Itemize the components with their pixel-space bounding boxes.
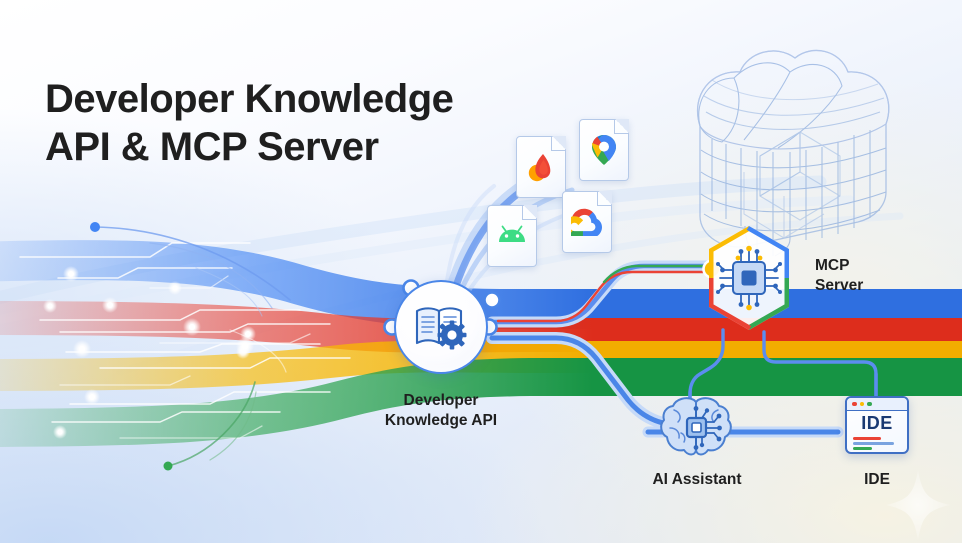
mcp-server-node[interactable]: [700, 222, 798, 339]
maps-doc[interactable]: [579, 119, 629, 181]
page-title: Developer Knowledge API & MCP Server: [45, 75, 453, 171]
ide-titlebar: [847, 398, 907, 411]
ide-label: IDE: [817, 470, 937, 490]
ai-assistant-label: AI Assistant: [627, 470, 767, 490]
firebase-flame-icon: [526, 151, 556, 183]
title-line-2: API & MCP Server: [45, 123, 453, 171]
ide-screen-text: IDE: [847, 414, 907, 432]
firebase-doc[interactable]: [516, 136, 566, 198]
developer-knowledge-api-node[interactable]: [394, 280, 488, 374]
google-maps-pin-icon: [590, 133, 618, 167]
cloud-doc[interactable]: [562, 191, 612, 253]
google-cloud-icon: [571, 208, 603, 236]
ai-assistant-node[interactable]: [658, 392, 736, 469]
ide-window-icon[interactable]: IDE: [845, 396, 909, 454]
window-dot-yellow: [860, 402, 865, 407]
infographic-canvas: Developer Knowledge API & MCP Server: [0, 0, 962, 543]
android-robot-icon: [496, 225, 528, 247]
title-line-1: Developer Knowledge: [45, 75, 453, 123]
ide-code-lines: [847, 437, 907, 454]
mcp-hexagon[interactable]: [700, 222, 798, 334]
window-dot-green: [867, 402, 872, 407]
book-gear-icon: [413, 301, 469, 353]
ide-screen: IDE: [847, 411, 907, 454]
api-circle[interactable]: [394, 280, 488, 374]
window-dot-red: [852, 402, 857, 407]
mcp-label: MCP Server: [815, 256, 935, 296]
brain-circuit-icon[interactable]: [658, 392, 736, 464]
android-doc[interactable]: [487, 205, 537, 267]
api-label: Developer Knowledge API: [351, 391, 531, 431]
ide-node[interactable]: IDE: [845, 396, 909, 454]
